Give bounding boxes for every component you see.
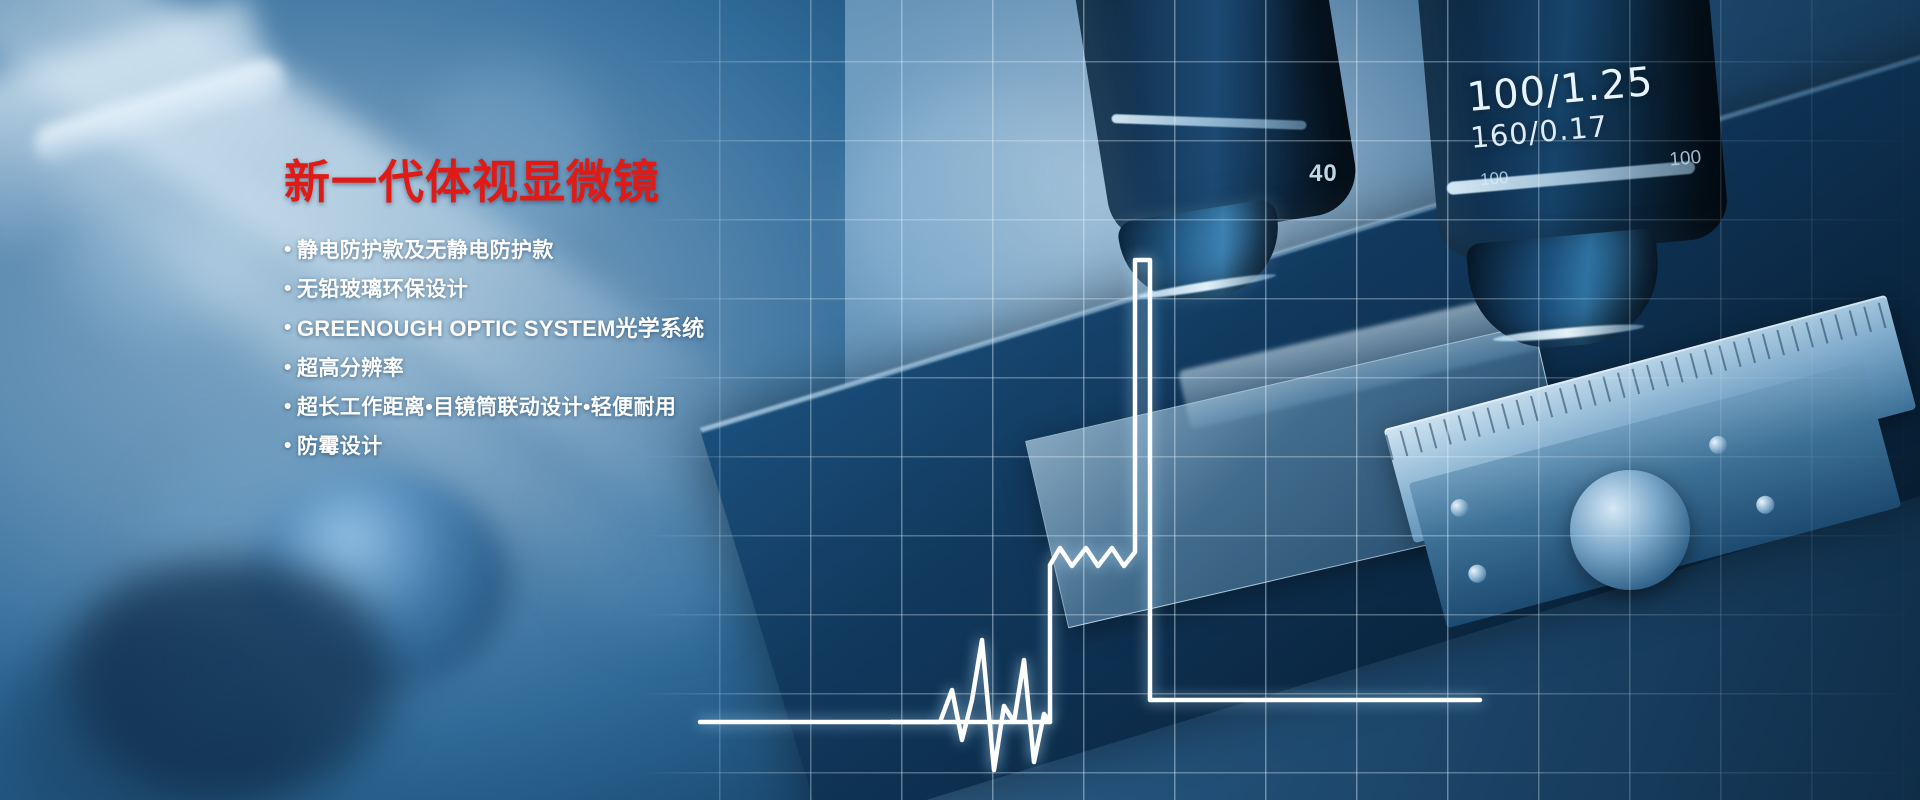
list-item: 静电防护款及无静电防护款 xyxy=(284,240,844,261)
list-item: 超长工作距离•目镜筒联动设计•轻便耐用 xyxy=(284,397,844,418)
lens-highlight-band xyxy=(1111,114,1306,130)
screw-icon xyxy=(1707,434,1729,456)
stage-adjustment-knob xyxy=(1570,470,1690,590)
hero-banner: 40 100/1.25 160/0.17 100 100 新一代体视显微镜 静电… xyxy=(0,0,1920,800)
copy-block: 新一代体视显微镜 静电防护款及无静电防护款 无铅玻璃环保设计 GREENOUGH… xyxy=(284,158,844,475)
list-item: GREENOUGH OPTIC SYSTEM光学系统 xyxy=(284,318,844,340)
feature-list: 静电防护款及无静电防护款 无铅玻璃环保设计 GREENOUGH OPTIC SY… xyxy=(284,240,844,457)
blurred-dark-shadow xyxy=(60,560,400,800)
list-item: 防霉设计 xyxy=(284,436,844,457)
list-item: 无铅玻璃环保设计 xyxy=(284,279,844,300)
list-item: 超高分辨率 xyxy=(284,358,844,379)
objective-left-magnification: 40 xyxy=(1309,160,1338,188)
screw-icon xyxy=(1754,494,1776,516)
objective-right-aperture-label: 100/1.25 xyxy=(1465,59,1655,121)
screw-icon xyxy=(1449,497,1471,519)
screw-icon xyxy=(1466,563,1488,585)
objective-lens-right: 100/1.25 160/0.17 100 100 xyxy=(1410,0,1730,262)
page-title: 新一代体视显微镜 xyxy=(284,158,844,206)
